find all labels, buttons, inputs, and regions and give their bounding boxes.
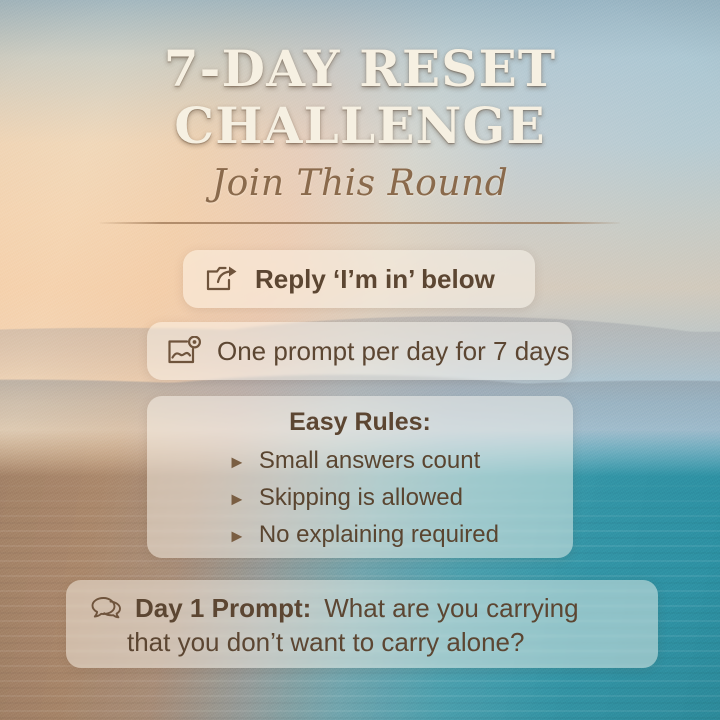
card-cadence[interactable]: One prompt per day for 7 days <box>147 322 572 380</box>
bullet-triangle-icon: ► <box>228 519 246 554</box>
page-title-line1: 7-DAY RESET <box>0 40 720 97</box>
list-item: ► Small answers count <box>228 443 573 480</box>
rules-item-label: Small answers count <box>259 443 480 478</box>
share-folder-icon <box>205 264 239 294</box>
speech-bubbles-icon <box>90 595 122 621</box>
card-reply-cta[interactable]: Reply ‘I’m in’ below <box>183 250 535 308</box>
prompt-label: Day 1 Prompt: <box>135 591 311 625</box>
list-item: ► Skipping is allowed <box>228 480 573 517</box>
bullet-triangle-icon: ► <box>228 482 246 517</box>
poster-canvas: 7-DAY RESET CHALLENGE Join This Round Re… <box>0 0 720 720</box>
photo-prompt-icon <box>167 336 203 367</box>
rules-heading: Easy Rules: <box>147 408 573 437</box>
rules-list: ► Small answers count ► Skipping is allo… <box>147 443 573 554</box>
bullet-triangle-icon: ► <box>228 445 246 480</box>
header-divider <box>100 222 620 224</box>
rules-item-label: No explaining required <box>259 517 499 552</box>
card-reply-label: Reply ‘I’m in’ below <box>255 264 495 295</box>
page-title-line2: CHALLENGE <box>0 97 720 154</box>
list-item: ► No explaining required <box>228 517 573 554</box>
card-easy-rules[interactable]: Easy Rules: ► Small answers count ► Skip… <box>147 396 573 558</box>
page-subtitle: Join This Round <box>0 163 720 204</box>
poster-content: 7-DAY RESET CHALLENGE Join This Round Re… <box>0 0 720 720</box>
card-cadence-label: One prompt per day for 7 days <box>217 336 570 367</box>
card-day-one-prompt[interactable]: Day 1 Prompt: What are you carrying that… <box>66 580 658 668</box>
page-title: 7-DAY RESET CHALLENGE <box>0 40 720 154</box>
prompt-text-line2: that you don’t want to carry alone? <box>90 625 634 659</box>
rules-item-label: Skipping is allowed <box>259 480 463 515</box>
prompt-text-line1: What are you carrying <box>324 591 578 625</box>
prompt-first-line: Day 1 Prompt: What are you carrying <box>90 591 634 625</box>
